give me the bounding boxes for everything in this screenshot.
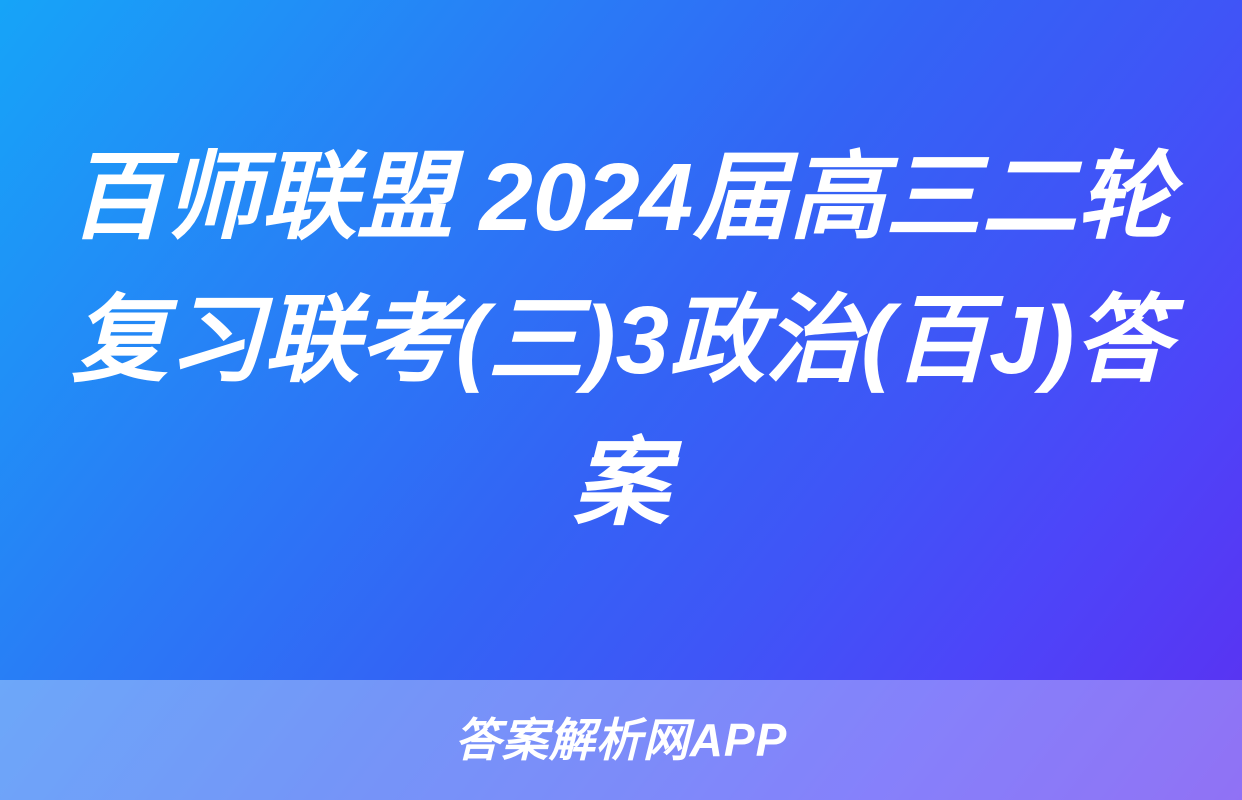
headline-container: 百师联盟 2024届高三二轮复习联考(三)3政治(百J)答案	[0, 0, 1242, 680]
app-watermark-label: 答案解析网APP	[455, 717, 788, 763]
watermark-band: 答案解析网APP	[0, 680, 1242, 800]
page-title: 百师联盟 2024届高三二轮复习联考(三)3政治(百J)答案	[62, 126, 1180, 555]
poster-canvas: 百师联盟 2024届高三二轮复习联考(三)3政治(百J)答案 答案解析网APP	[0, 0, 1242, 800]
